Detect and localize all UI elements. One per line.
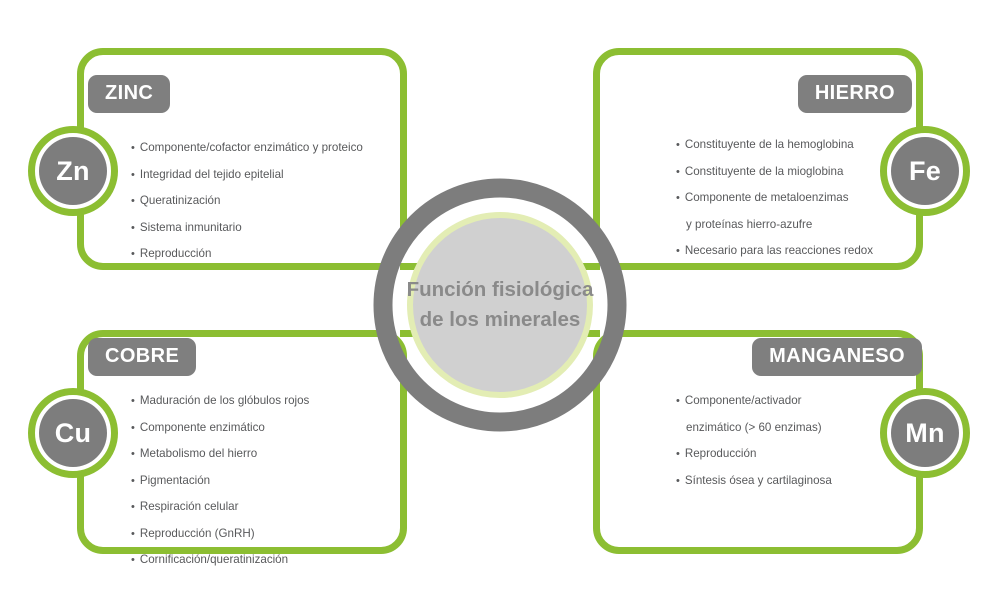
- bullet-item: Constituyente de la hemoglobina: [676, 132, 873, 159]
- bullet-list-hierro: Constituyente de la hemoglobinaConstituy…: [676, 132, 873, 265]
- bullet-item: Componente de metaloenzimas: [676, 185, 873, 212]
- panel-title-hierro: HIERRO: [798, 75, 912, 113]
- center-hub: Función fisiológica de los minerales: [320, 155, 680, 455]
- infographic-canvas: Función fisiológica de los minerales Zn …: [0, 0, 1000, 605]
- element-badge-hierro[interactable]: Fe: [880, 126, 970, 216]
- bullet-item: Necesario para las reacciones redox: [676, 238, 873, 265]
- bullet-item: Queratinización: [131, 188, 363, 215]
- bullet-item: Componente/activador: [676, 388, 832, 415]
- bullet-item: Reproducción (GnRH): [131, 521, 309, 548]
- panel-title-zinc: ZINC: [88, 75, 170, 113]
- element-badge-cobre[interactable]: Cu: [28, 388, 118, 478]
- bullet-list-zinc: Componente/cofactor enzimático y proteic…: [131, 135, 363, 268]
- bullet-item: Pigmentación: [131, 468, 309, 495]
- bullet-item: Metabolismo del hierro: [131, 441, 309, 468]
- element-badge-zinc[interactable]: Zn: [28, 126, 118, 216]
- center-disc: [413, 218, 587, 392]
- panel-title-manganeso: MANGANESO: [752, 338, 922, 376]
- bullet-item: Reproducción: [131, 241, 363, 268]
- element-badge-manganeso[interactable]: Mn: [880, 388, 970, 478]
- element-symbol-zn: Zn: [39, 137, 107, 205]
- element-symbol-mn: Mn: [891, 399, 959, 467]
- bullet-item: Componente enzimático: [131, 415, 309, 442]
- bullet-item: Integridad del tejido epitelial: [131, 162, 363, 189]
- panel-title-cobre: COBRE: [88, 338, 196, 376]
- bullet-item: Componente/cofactor enzimático y proteic…: [131, 135, 363, 162]
- bullet-item: Respiración celular: [131, 494, 309, 521]
- bullet-item: Maduración de los glóbulos rojos: [131, 388, 309, 415]
- element-symbol-cu: Cu: [39, 399, 107, 467]
- bullet-item: Sistema inmunitario: [131, 215, 363, 242]
- bullet-item: enzimático (> 60 enzimas): [676, 415, 832, 442]
- bullet-list-manganeso: Componente/activadorenzimático (> 60 enz…: [676, 388, 832, 494]
- bullet-item: y proteínas hierro-azufre: [676, 212, 873, 239]
- bullet-item: Reproducción: [676, 441, 832, 468]
- bullet-list-cobre: Maduración de los glóbulos rojosComponen…: [131, 388, 309, 574]
- bullet-item: Síntesis ósea y cartilaginosa: [676, 468, 832, 495]
- bullet-item: Cornificación/queratinización: [131, 547, 309, 574]
- bullet-item: Constituyente de la mioglobina: [676, 159, 873, 186]
- element-symbol-fe: Fe: [891, 137, 959, 205]
